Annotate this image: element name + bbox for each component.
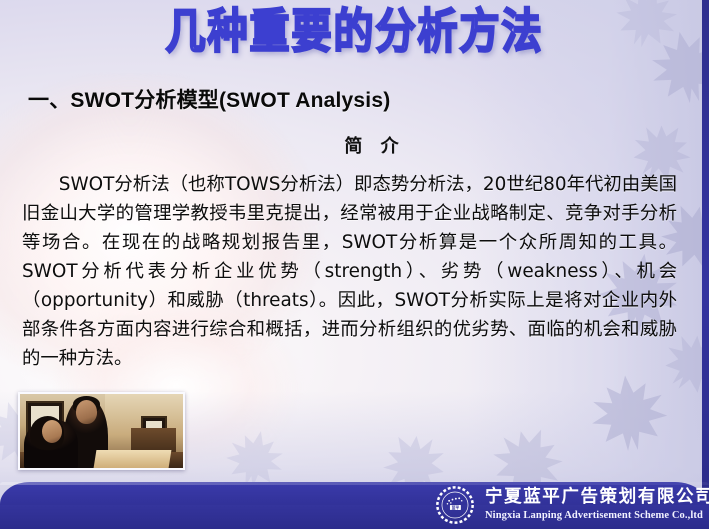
company-logo: 蓝平 宁夏蓝平广告策划有限公司 Ningxia Lanping Advertis… <box>434 483 709 527</box>
photo-document <box>94 450 172 468</box>
maple-leaf-icon <box>584 368 674 458</box>
sub-heading: 简 介 <box>0 132 709 158</box>
office-photo <box>18 392 185 470</box>
body-paragraph: SWOT分析法（也称TOWS分析法）即态势分析法，20世纪80年代初由美国旧金山… <box>22 170 677 373</box>
svg-text:蓝平: 蓝平 <box>452 505 460 510</box>
photo-person-seated-head <box>42 420 62 443</box>
slide-border-right <box>702 0 709 529</box>
logo-ring-icon: 蓝平 <box>434 484 476 526</box>
logo-text-block: 宁夏蓝平广告策划有限公司 Ningxia Lanping Advertiseme… <box>485 489 709 521</box>
section-heading: 一、SWOT分析模型(SWOT Analysis) <box>28 84 390 114</box>
company-name-cn: 宁夏蓝平广告策划有限公司 <box>485 489 709 507</box>
photo-person-standing-head <box>76 400 97 424</box>
slide-canvas: 几种重要的分析方法 一、SWOT分析模型(SWOT Analysis) 简 介 … <box>0 0 709 529</box>
office-photo-content <box>20 394 183 468</box>
company-name-en: Ningxia Lanping Advertisement Scheme Co.… <box>485 511 709 522</box>
